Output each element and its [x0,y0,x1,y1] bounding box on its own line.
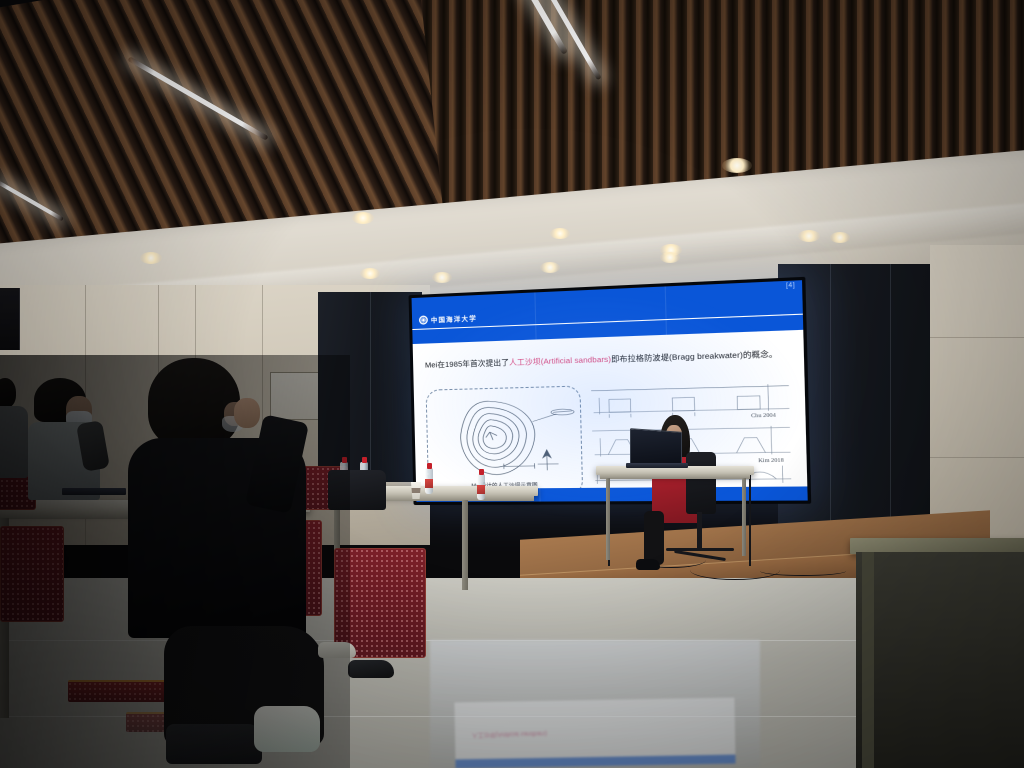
presenter-laptop-screen[interactable] [630,428,682,468]
presenter-desk-apron [600,474,750,479]
recessed-downlight-5 [540,262,560,273]
water-bottle-3[interactable] [425,468,433,494]
water-bottle-label-3 [425,479,433,488]
center-person-shoe-dark [166,724,262,764]
center-person-hair [148,358,240,448]
office-chair-back[interactable] [686,452,716,514]
foreground-right-desk-apron [856,552,1024,768]
audience-desk-row2-leg-r [462,500,468,590]
recessed-downlight-2 [352,212,374,224]
wall-speaker [0,288,20,350]
audience-chair-back-4[interactable] [0,526,64,622]
wall-whiteboard [270,372,322,420]
university-name: 中国海洋大学 [431,312,477,324]
recessed-downlight-8 [660,252,680,263]
presenter-desk-leg-left [606,478,610,560]
figure-citation-2: Kim 2018 [758,458,784,465]
university-seal-icon [419,315,428,324]
mic-stand-right [749,470,751,566]
recessed-downlight-9 [798,230,820,242]
paper-cup-band [411,488,421,493]
lecture-hall-scene: [4] 研究内容背景 中国海洋大学 Mei在1985年首次提出了人工沙坝(Art… [0,0,1024,768]
presenter-desk-leg-right [742,478,746,556]
figure-contour-map: Mei设计的人工沙坝示意图 [426,386,584,496]
slide-paragraph: Mei在1985年首次提出了人工沙坝(Artificial sandbars)即… [425,348,790,372]
contour-map-svg [427,387,583,495]
black-backpack[interactable] [328,470,386,510]
center-person-shoe-white [254,706,320,752]
recessed-downlight-1 [140,252,162,264]
floor-cable-3 [760,566,846,576]
figure-citation-1: Chu 2004 [751,413,776,420]
foreground-right-desk-leg [862,552,874,768]
recessed-downlight-3 [360,268,380,279]
edge-person-head [0,378,16,408]
water-bottle-label-4 [477,485,485,494]
reflected-slide-text: 人工沙坝(Artificial sandbars) [472,730,548,740]
presenter-laptop-base[interactable] [626,463,688,468]
acoustic-wall-panel-left [318,292,422,482]
slide-text-suffix: 即布拉格防波堤(Bragg breakwater)的概念。 [611,349,778,364]
presenter-shoe [636,559,660,570]
other-shoe-light [318,642,356,658]
presenter-leg [644,511,664,565]
recessed-downlight-6 [550,228,570,239]
office-chair-post [697,512,702,548]
edge-person-torso [0,406,28,478]
other-shoe-dark [348,660,394,678]
slide-text-prefix: Mei在1985年首次提出了 [425,358,509,370]
slide-page-number: [4] [786,283,795,290]
water-bottle-4[interactable] [477,474,485,500]
center-person-hand [234,398,260,428]
audience-laptop[interactable] [62,488,126,495]
recessed-downlight-4 [432,272,452,283]
recessed-downlight-11 [722,158,752,173]
slide-floor-reflection: 人工沙坝(Artificial sandbars) [454,698,735,768]
recessed-downlight-10 [830,232,850,243]
slide-text-highlight: 人工沙坝(Artificial sandbars) [509,355,611,368]
